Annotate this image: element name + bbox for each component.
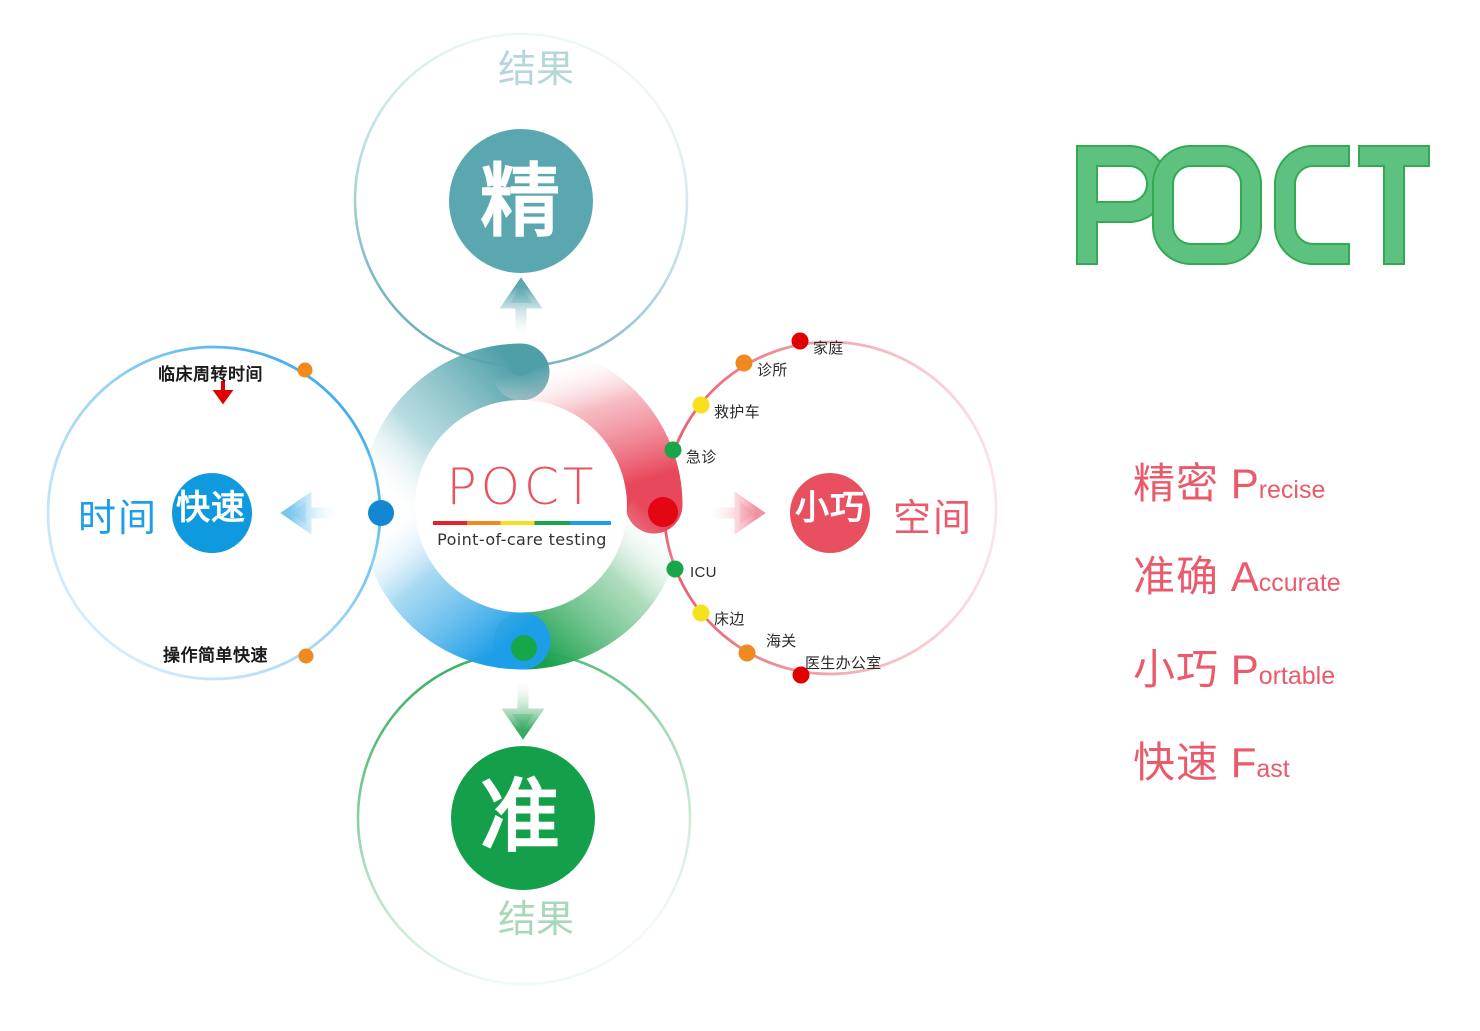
legend-rest-2: ortable [1259,662,1335,690]
node-label-0: 家庭 [813,337,844,358]
legend-space-0 [1219,460,1231,507]
callout-label-easy-operation: 操作简单快速 [163,641,268,666]
hub-label-bottom: 准 [460,775,580,859]
infographic-canvas: POCT Point-of-care testing 精 准 快速 小巧 结果 … [0,0,1480,1031]
arrow-up-icon [510,287,532,340]
hub-label-left: 快速 [166,489,256,527]
node-label-6: 海关 [766,630,797,651]
center-poct-subtitle: Point-of-care testing [432,530,612,549]
ring-anchor-dot-bottom [511,635,537,661]
axis-label-time: 时间 [78,487,158,542]
node-dot-3 [665,442,682,459]
legend-initial-1: A [1231,553,1259,600]
callout-dot-top [298,363,313,378]
brand-logo-poct [1071,140,1431,270]
legend-row-3: 快速 Fast [1133,729,1341,790]
axis-label-space: 空间 [893,487,973,542]
arrow-right-icon [706,502,756,524]
hub-label-right: 小巧 [785,489,875,527]
node-dot-6 [739,645,756,662]
legend-space-3 [1219,739,1231,786]
node-label-4: ICU [690,564,717,581]
node-dot-0 [792,333,809,350]
ring-anchor-dot-right [648,497,678,527]
legend-list: 精密 Precise准确 Accurate小巧 Portable快速 Fast [1133,450,1341,822]
node-dot-5 [693,605,710,622]
node-dot-4 [667,561,684,578]
center-logo-block: POCT Point-of-care testing [432,462,612,549]
node-dot-1 [736,355,753,372]
legend-space-2 [1219,646,1231,693]
node-dot-2 [693,397,710,414]
legend-initial-3: F [1231,739,1257,786]
node-label-5: 床边 [714,608,745,629]
legend-row-2: 小巧 Portable [1133,636,1341,697]
legend-rest-1: ccurate [1259,569,1341,597]
arrow-down-icon [512,678,534,730]
callout-dot-bottom [299,649,314,664]
legend-cn-3: 快速 [1133,739,1219,786]
legend-initial-0: P [1231,460,1259,507]
legend-initial-2: P [1231,646,1259,693]
callout-label-turnaround: 临床周转时间 [158,360,263,385]
node-label-7: 医生办公室 [805,652,882,673]
node-label-2: 救护车 [714,401,760,422]
ring-anchor-dot-left [368,500,394,526]
node-label-3: 急诊 [686,446,717,467]
outer-label-top: 结果 [498,48,544,92]
ring-anchor-dot-top [508,350,534,376]
legend-cn-2: 小巧 [1133,646,1219,693]
legend-cn-1: 准确 [1133,553,1219,600]
node-label-1: 诊所 [757,359,788,380]
legend-rest-0: recise [1259,476,1326,504]
center-color-bar [433,521,611,525]
legend-space-1 [1219,553,1231,600]
outer-label-bottom: 结果 [498,898,544,942]
legend-row-0: 精密 Precise [1133,450,1341,511]
legend-cn-0: 精密 [1133,460,1219,507]
legend-rest-3: ast [1256,755,1289,783]
legend-row-1: 准确 Accurate [1133,543,1341,604]
hub-label-top: 精 [460,160,580,244]
center-poct-title: POCT [432,462,612,512]
arrow-left-icon [290,502,340,524]
